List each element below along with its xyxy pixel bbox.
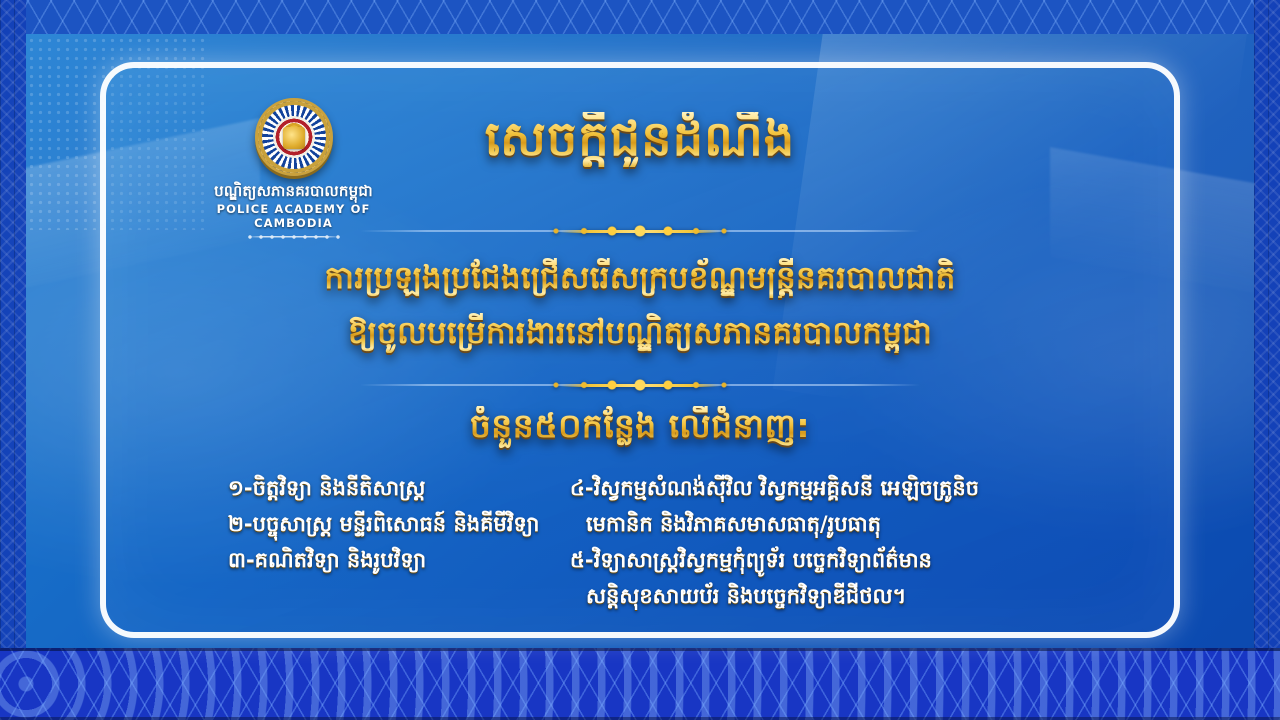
specialty-item-continuation: មេកានិក និងវិភាគសមាសធាតុ/រូបធាតុ [570,506,881,542]
ornamental-divider-top [360,222,920,240]
logo-flourish-icon [248,233,340,241]
specialty-column-right: ៤-វិស្វកម្មសំណង់ស៊ីវិល វិស្វកម្មអគ្គិសនី… [570,470,1130,614]
specialty-item: ៣-គណិតវិទ្យា និងរូបវិទ្យា [228,542,426,578]
specialty-columns: ១-ចិត្តវិទ្យា និងនីតិសាស្ត្រ ២-បច្ចុសាស្… [150,470,1130,614]
subtitle-line-2: ឱ្យចូលបម្រើការងារនៅបណ្ឌិត្យសភានគរបាលកម្ព… [0,313,1280,353]
specialty-item: ២-បច្ចុសាស្ត្រ មន្ទីរពិសោធន៍ និងគីមីវិទ្… [228,506,539,542]
specialty-item: ៤-វិស្វកម្មសំណង់ស៊ីវិល វិស្វកម្មអគ្គិសនី… [570,470,979,506]
specialty-item-continuation: សន្តិសុខសាយប័រ និងបច្ចេកវិទ្យាឌីជីថល។ [570,578,906,614]
specialty-item: ៥-វិទ្យាសាស្ត្រវិស្វកម្មកុំព្យូទ័រ បច្ចេ… [570,542,932,578]
specialty-item: ១-ចិត្តវិទ្យា និងនីតិសាស្ត្រ [228,470,425,506]
specialty-column-left: ១-ចិត្តវិទ្យា និងនីតិសាស្ត្រ ២-បច្ចុសាស្… [150,470,550,614]
vacancy-count-heading: ចំនួន៥០កន្លែង លើជំនាញ: [0,406,1280,454]
page-title: សេចក្តីជូនដំណឹង [0,112,1280,167]
institution-name-khmer: បណ្ឌិត្យសភានគរបាលកម្ពុជា [186,182,401,201]
subtitle-line-1: ការប្រឡងប្រជែងជ្រើសរើសក្របខ័ណ្ឌមន្ត្រីនគ… [0,258,1280,298]
ornamental-divider-bottom [360,376,920,394]
divider-ornament-icon [540,376,740,394]
announcement-poster: បណ្ឌិត្យសភានគរបាលកម្ពុជា POLICE ACADEMY … [0,0,1280,720]
divider-ornament-icon [540,222,740,240]
poster-content: បណ្ឌិត្យសភានគរបាលកម្ពុជា POLICE ACADEMY … [0,0,1280,720]
